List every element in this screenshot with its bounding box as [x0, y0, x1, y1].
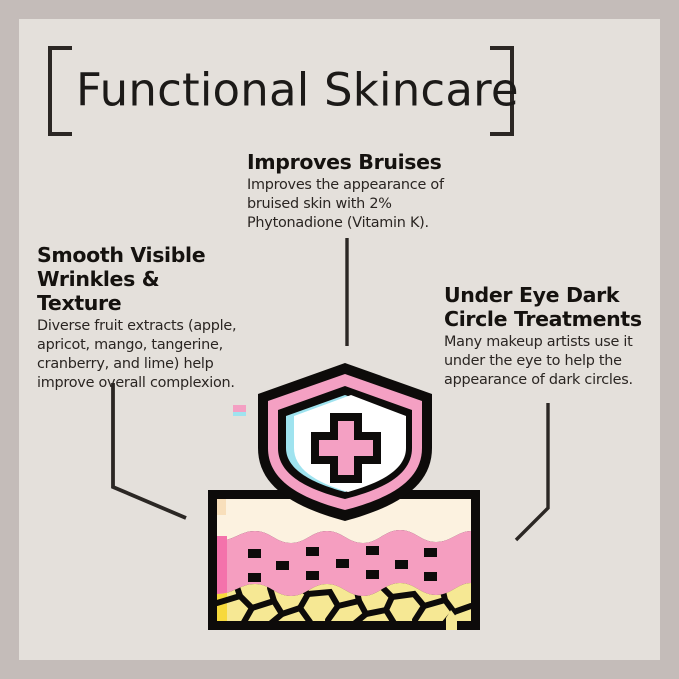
- page-title-block: Functional Skincare: [48, 46, 514, 136]
- callout-improves-bruises: Improves Bruises Improves the appearance…: [247, 150, 447, 233]
- bracket-left-icon: [48, 46, 72, 136]
- infographic-canvas: Functional Skincare Improves Bruises Imp…: [0, 0, 679, 679]
- callout-heading-improves-bruises: Improves Bruises: [247, 150, 447, 174]
- page-title: Functional Skincare: [76, 63, 519, 116]
- callout-body-improves-bruises: Improves the appearance of bruised skin …: [247, 176, 447, 233]
- callout-heading-under-eye-dark-circle-treatments: Under Eye Dark Circle Treatments: [444, 283, 646, 331]
- callout-heading-smooth-visible-wrinkles-texture: Smooth Visible Wrinkles & Texture: [37, 243, 242, 315]
- illustration-group: [196, 356, 488, 641]
